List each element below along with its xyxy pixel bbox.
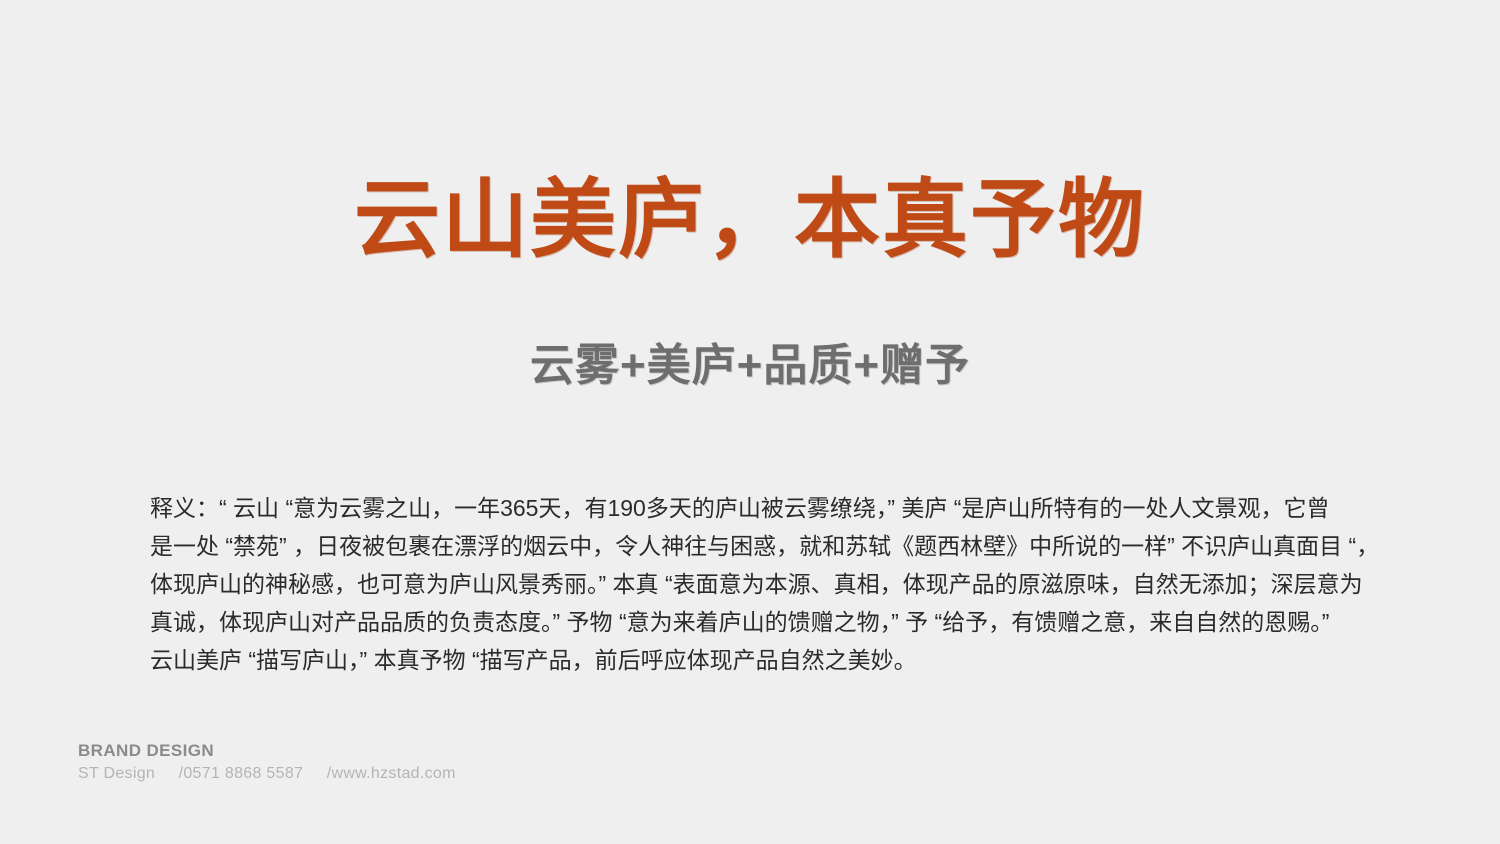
page-title: 云山美庐，本真予物 (354, 172, 1146, 268)
footer-studio-name: ST Design (78, 765, 155, 782)
paragraph-line: 真诚，体现庐山对产品品质的负责态度。” 予物 “意为来着庐山的馈赠之物，” 予 … (150, 603, 1355, 641)
paragraph-line: 体现庐山的神秘感，也可意为庐山风景秀丽。” 本真 “表面意为本源、真相，体现产品… (150, 565, 1355, 603)
footer-website[interactable]: /www.hzstad.com (327, 765, 456, 782)
title-block: 云山美庐，本真予物 (0, 172, 1500, 268)
footer-brand-label: BRAND DESIGN (78, 740, 678, 762)
paragraph-line: 云山美庐 “描写庐山，” 本真予物 “描写产品，前后呼应体现产品自然之美妙。 (150, 641, 1355, 679)
definition-paragraph: 释义：“ 云山 “意为云雾之山，一年365天，有190多天的庐山被云雾缭绕，” … (150, 489, 1355, 679)
page-subtitle: 云雾+美庐+品质+赠予 (530, 340, 970, 393)
footer-phone: /0571 8868 5587 (179, 765, 304, 782)
footer: BRAND DESIGN ST Design /0571 8868 5587 /… (78, 740, 678, 786)
paragraph-line: 释义：“ 云山 “意为云雾之山，一年365天，有190多天的庐山被云雾缭绕，” … (150, 489, 1355, 527)
subtitle-block: 云雾+美庐+品质+赠予 (0, 340, 1500, 393)
slide-canvas: 云山美庐，本真予物 云雾+美庐+品质+赠予 释义：“ 云山 “意为云雾之山，一年… (0, 0, 1500, 844)
footer-contact-line: ST Design /0571 8868 5587 /www.hzstad.co… (78, 762, 678, 786)
paragraph-line: 是一处 “禁苑” ，日夜被包裹在漂浮的烟云中，令人神往与困惑，就和苏轼《题西林壁… (150, 527, 1355, 565)
